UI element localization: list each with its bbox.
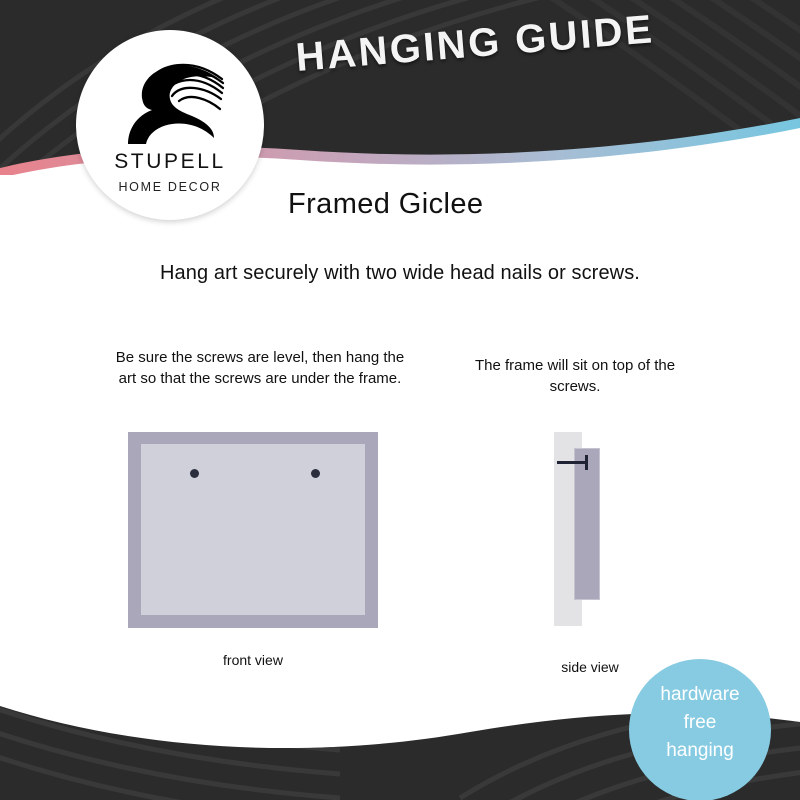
product-type-heading: Framed Giclee xyxy=(288,188,483,221)
lead-instruction: Hang art securely with two wide head nai… xyxy=(0,262,800,285)
caption-front-view: Be sure the screws are level, then hang … xyxy=(110,347,410,389)
hardware-free-hanging-badge: hardware free hanging xyxy=(629,659,771,800)
brand-subtitle: HOME DECOR xyxy=(76,180,264,194)
badge-line-1: hardware xyxy=(629,681,771,709)
brand-logo-badge: STUPELL HOME DECOR xyxy=(76,30,264,220)
badge-line-2: free xyxy=(629,709,771,737)
screw-dot-left xyxy=(190,469,199,478)
hanging-guide-page: HANGING GUIDE STUPELL HOME DECOR Framed … xyxy=(0,0,800,800)
side-view-frame xyxy=(574,448,600,600)
front-view-label: front view xyxy=(153,652,353,668)
front-view-frame-interior xyxy=(141,444,365,615)
side-view-screw-shaft-icon xyxy=(557,461,587,464)
brand-wordmark: STUPELL xyxy=(76,150,264,174)
screw-dot-right xyxy=(311,469,320,478)
stupell-s-swirl-icon xyxy=(110,46,230,146)
caption-side-view: The frame will sit on top of the screws. xyxy=(460,355,690,397)
badge-line-3: hanging xyxy=(629,737,771,765)
front-view-frame xyxy=(128,432,378,628)
side-view-screw-head-icon xyxy=(585,455,588,470)
